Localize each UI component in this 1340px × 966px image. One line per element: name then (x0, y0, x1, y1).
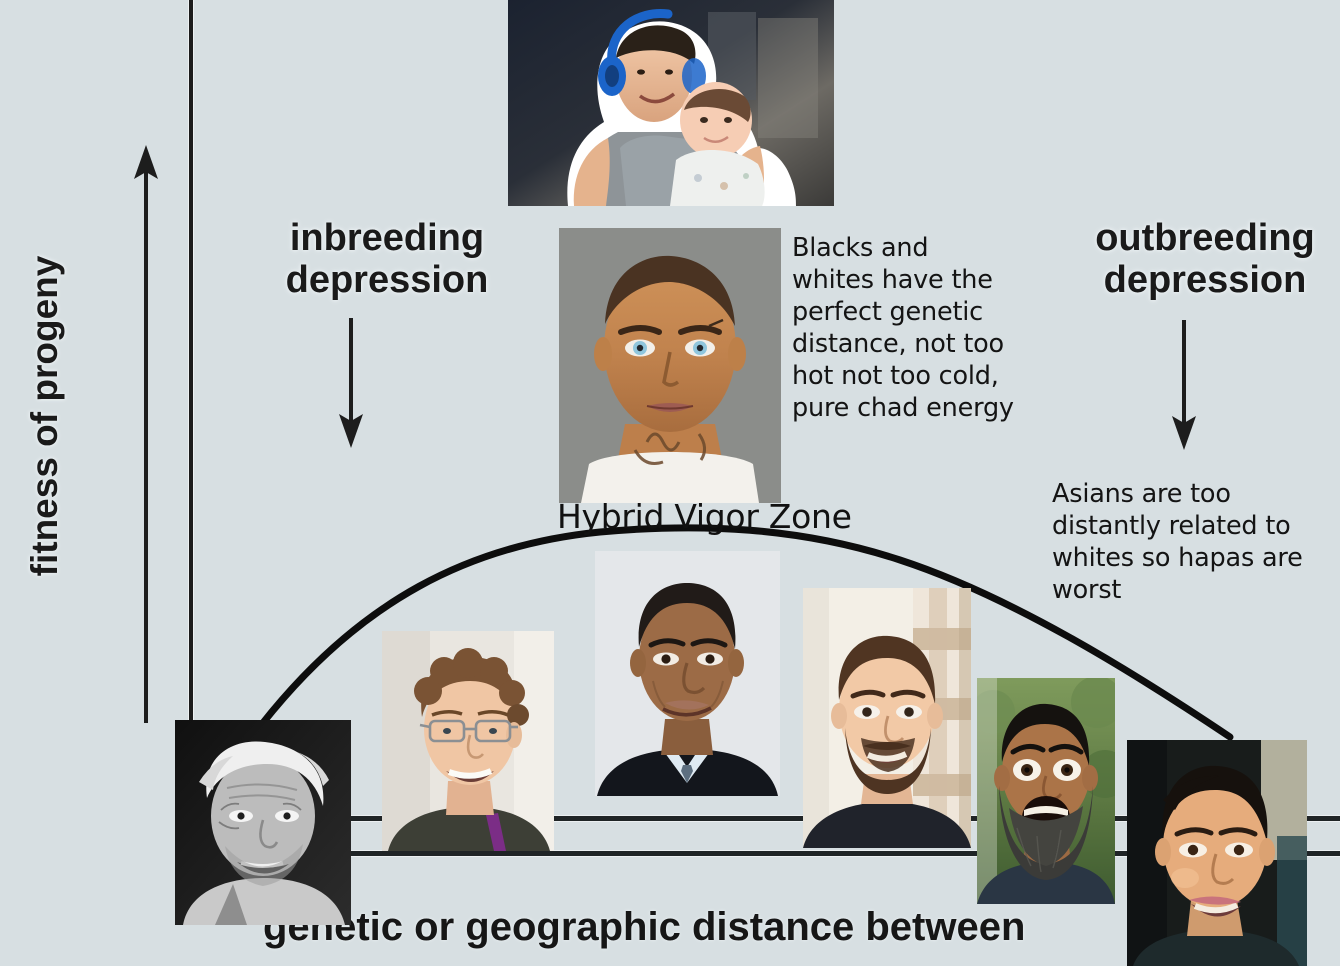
photo-shouting-man (977, 678, 1115, 904)
y-axis-label: fitness of progeny (24, 236, 66, 596)
inbreeding-depression-heading: inbreeding depression (262, 218, 512, 302)
hybrid-vigor-zone-label: Hybrid Vigor Zone (557, 497, 852, 536)
outbreeding-down-arrow-icon (1171, 320, 1197, 450)
x-axis-label: genetic or geographic distance between (263, 905, 1025, 950)
center-annotation-text: Blacks and whites have the perfect genet… (792, 232, 1050, 424)
outbreeding-depression-heading: outbreeding depression (1065, 218, 1340, 302)
photo-bespectacled-man (382, 631, 554, 851)
right-annotation-text: Asians are too distantly related to whit… (1052, 478, 1340, 606)
y-axis-line (189, 0, 193, 724)
photo-obama (595, 551, 780, 796)
photo-homeless-man (175, 720, 351, 925)
chart-canvas: fitness of progeny genetic or geographic… (0, 0, 1340, 966)
inbreeding-down-arrow-icon (338, 318, 364, 448)
photo-mugshot-man (559, 228, 781, 503)
photo-young-man-car (1127, 740, 1307, 966)
photo-man-with-baby (508, 0, 834, 206)
y-axis-up-arrow-icon (133, 145, 159, 725)
photo-bearded-man (803, 588, 971, 848)
